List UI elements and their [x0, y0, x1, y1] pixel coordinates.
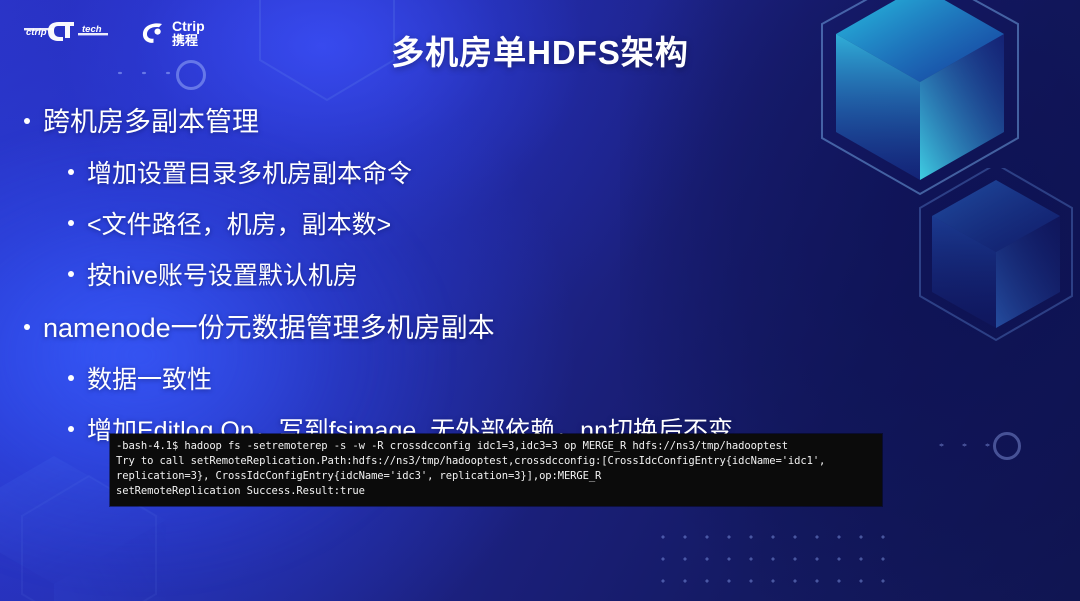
list-item: <文件路径，机房，副本数>	[22, 205, 922, 241]
list-item-label: <文件路径，机房，副本数>	[87, 205, 391, 241]
bullet-dot-icon	[68, 375, 74, 381]
list-item: 数据一致性	[22, 360, 922, 396]
ring-mid-right-icon	[993, 432, 1021, 460]
bullet-dot-icon	[68, 426, 74, 432]
list-item: 跨机房多副本管理	[22, 100, 922, 139]
list-item: 增加设置目录多机房副本命令	[22, 154, 922, 190]
dot-row-mid-right	[930, 438, 994, 452]
dot-grid-bottom-right	[652, 526, 890, 598]
list-item: 按hive账号设置默认机房	[22, 256, 922, 292]
terminal-line: replication=3}, CrossIdcConfigEntry{idcN…	[116, 469, 876, 484]
list-item-label: 跨机房多副本管理	[43, 100, 259, 139]
terminal-line: setRemoteReplication Success.Result:true	[116, 484, 876, 499]
list-item-label: 增加设置目录多机房副本命令	[87, 154, 412, 190]
bullet-dot-icon	[68, 220, 74, 226]
bullet-dot-icon	[24, 324, 30, 330]
list-item: namenode一份元数据管理多机房副本	[22, 306, 922, 345]
list-item-label: namenode一份元数据管理多机房副本	[43, 306, 495, 345]
bullet-list: 跨机房多副本管理 增加设置目录多机房副本命令 <文件路径，机房，副本数> 按hi…	[22, 86, 922, 447]
bullet-dot-icon	[68, 271, 74, 277]
page-title: 多机房单HDFS架构	[0, 26, 1080, 74]
terminal-output-block: -bash-4.1$ hadoop fs -setremoterep -s -w…	[110, 434, 882, 506]
list-item-label: 数据一致性	[87, 360, 212, 396]
list-item-label: 按hive账号设置默认机房	[87, 256, 358, 292]
bullet-dot-icon	[24, 118, 30, 124]
bullet-dot-icon	[68, 169, 74, 175]
terminal-line: -bash-4.1$ hadoop fs -setremoterep -s -w…	[116, 439, 876, 454]
slide-canvas: ctrip tech Ctrip 携程 多机房单	[0, 0, 1080, 601]
terminal-line: Try to call setRemoteReplication.Path:hd…	[116, 454, 876, 469]
